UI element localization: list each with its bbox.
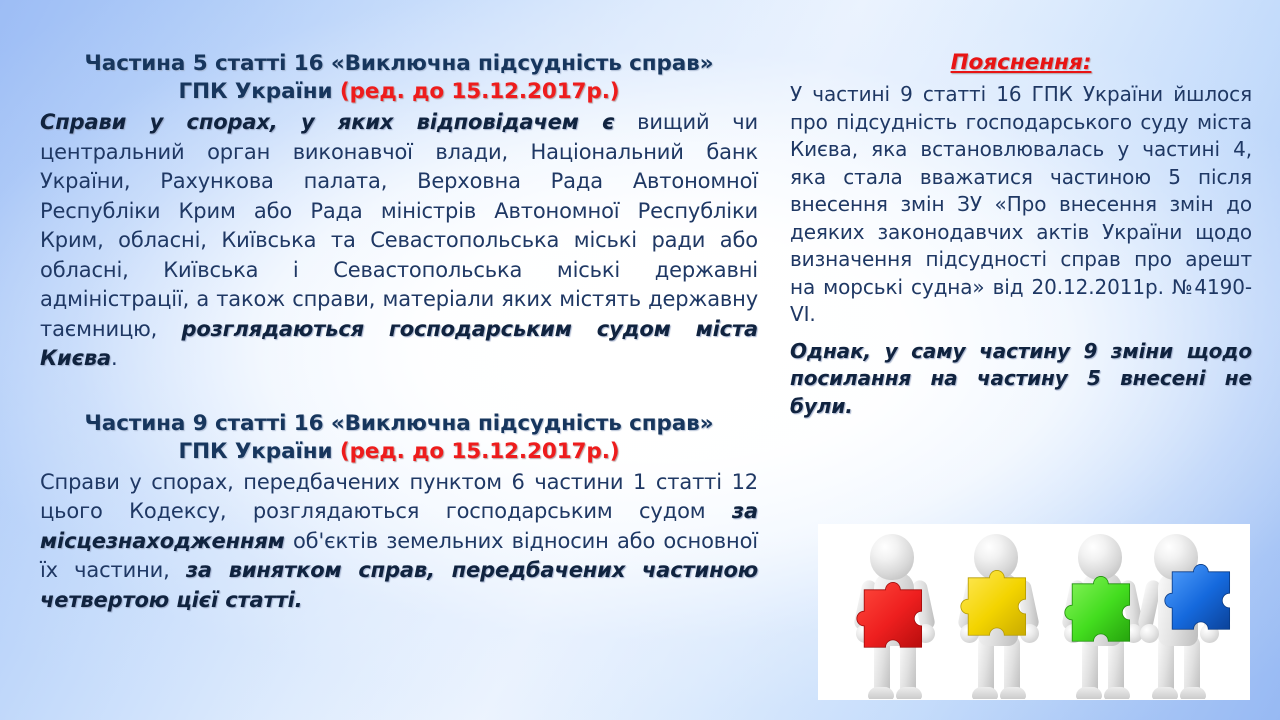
foot-right-icon	[1104, 687, 1130, 700]
foot-right-icon	[896, 687, 922, 700]
yellow-puzzle-figure	[948, 528, 1052, 700]
part5-body: Справи у спорах, у яких відповідачем є в…	[40, 108, 758, 374]
puzzle-teamwork-image	[818, 524, 1250, 700]
part9-heading: Частина 9 статті 16 «Виключна підсудніст…	[40, 410, 758, 466]
foot-right-icon	[1180, 687, 1206, 700]
explanation-paragraph-2: Однак, у саму частину 9 зміни щодо посил…	[790, 338, 1252, 421]
explanation-paragraph-2-text: Однак, у саму частину 9 зміни щодо посил…	[790, 339, 1252, 418]
part9-heading-edition-red: (ред. до 15.12.2017р.)	[340, 439, 620, 464]
part5-body-bold-open: Справи у спорах, у яких відповідачем є	[40, 110, 614, 134]
foot-left-icon	[868, 687, 894, 700]
left-block-part5: Частина 5 статті 16 «Виключна підсудніст…	[40, 50, 758, 374]
part9-body: Справи у спорах, передбачених пунктом 6 …	[40, 468, 758, 616]
part9-heading-line1: Частина 9 статті 16 «Виключна підсудніст…	[85, 411, 714, 436]
explanation-paragraph-1: У частині 9 статті 16 ГПК України йшлося…	[790, 81, 1252, 329]
foot-right-icon	[1000, 687, 1026, 700]
slide-canvas: Частина 5 статті 16 «Виключна підсудніст…	[0, 0, 1280, 720]
head-icon	[870, 534, 914, 580]
left-block-part9: Частина 9 статті 16 «Виключна підсудніст…	[40, 410, 758, 616]
explanation-paragraph-2-period: .	[845, 394, 853, 418]
part5-heading-line2-plain: ГПК України	[178, 79, 339, 104]
foot-left-icon	[1152, 687, 1178, 700]
hand-left-icon	[1140, 624, 1159, 643]
puzzle-piece-yellow-icon	[960, 568, 1042, 650]
part5-body-plain-mid: вищий чи центральний орган виконавчої вл…	[40, 110, 758, 341]
part5-body-period: .	[111, 346, 118, 370]
red-puzzle-figure	[844, 528, 948, 700]
foot-left-icon	[1076, 687, 1102, 700]
part9-heading-line2-plain: ГПК України	[178, 439, 339, 464]
right-column: Пояснення: У частині 9 статті 16 ГПК Укр…	[790, 50, 1252, 420]
part5-heading: Частина 5 статті 16 «Виключна підсудніст…	[40, 50, 758, 106]
explanation-title: Пояснення:	[790, 50, 1252, 75]
left-column-spacer	[40, 374, 758, 410]
foot-left-icon	[972, 687, 998, 700]
part5-heading-edition-red: (ред. до 15.12.2017р.)	[340, 79, 620, 104]
part9-body-plain-1: Справи у спорах, передбачених пунктом 6 …	[40, 470, 758, 524]
left-column: Частина 5 статті 16 «Виключна підсудніст…	[40, 50, 758, 615]
part5-heading-line1: Частина 5 статті 16 «Виключна підсудніст…	[85, 51, 714, 76]
puzzle-piece-blue-icon	[1164, 562, 1246, 644]
blue-puzzle-figure	[1128, 528, 1232, 700]
puzzle-piece-red-icon	[856, 580, 938, 662]
